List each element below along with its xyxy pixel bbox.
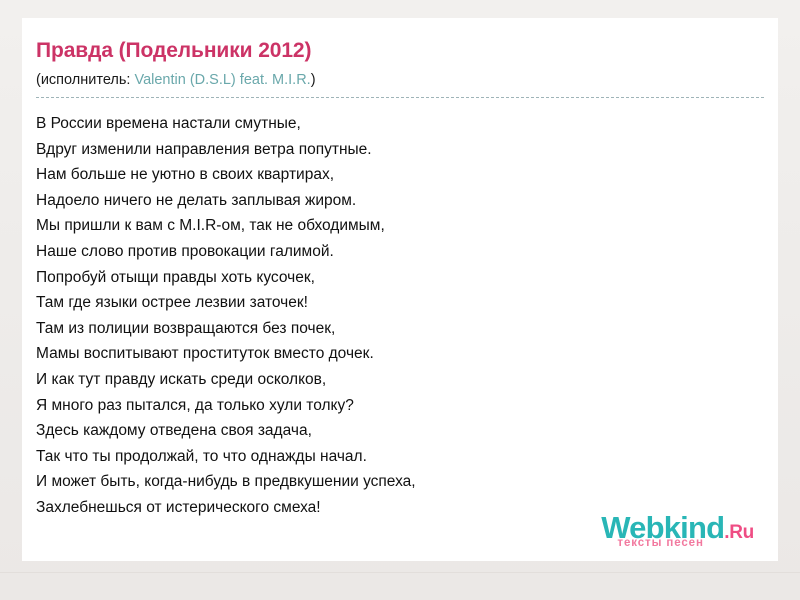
lyric-line: Мамы воспитывают проституток вместо доче… [36, 341, 764, 367]
artist-link[interactable]: Valentin (D.S.L) feat. M.I.R. [134, 72, 310, 88]
lyrics-text: В России времена настали смутные,Вдруг и… [22, 98, 778, 521]
lyrics-card: Правда (Подельники 2012) (исполнитель: V… [22, 18, 778, 561]
artist-suffix: ) [311, 72, 316, 88]
lyric-line: И может быть, когда-нибудь в предвкушени… [36, 469, 764, 495]
lyric-line: Вдруг изменили направления ветра попутны… [36, 137, 764, 163]
lyric-line: В России времена настали смутные, [36, 111, 764, 137]
logo-tld: .Ru [724, 522, 754, 543]
song-header: Правда (Подельники 2012) (исполнитель: V… [22, 18, 778, 90]
lyric-line: Мы пришли к вам с M.I.R-ом, так не обход… [36, 213, 764, 239]
artist-line: (исполнитель: Valentin (D.S.L) feat. M.I… [36, 70, 764, 90]
lyric-line: Попробуй отыщи правды хоть кусочек, [36, 265, 764, 291]
lyric-line: Нам больше не уютно в своих квартирах, [36, 162, 764, 188]
lyric-line: Там из полиции возвращаются без почек, [36, 316, 764, 342]
lyric-line: Наше слово против провокации галимой. [36, 239, 764, 265]
lyric-line: Надоело ничего не делать заплывая жиром. [36, 188, 764, 214]
site-logo[interactable]: Webkind.Ru тексты песен [601, 512, 754, 550]
page-hairline-divider [0, 572, 800, 573]
page-title: Правда (Подельники 2012) [36, 38, 764, 64]
artist-label: (исполнитель: [36, 72, 134, 88]
lyric-line: Так что ты продолжай, то что однажды нач… [36, 444, 764, 470]
lyric-line: И как тут правду искать среди осколков, [36, 367, 764, 393]
lyric-line: Там где языки острее лезвии заточек! [36, 290, 764, 316]
lyric-line: Я много раз пытался, да только хули толк… [36, 393, 764, 419]
lyric-line: Здесь каждому отведена своя задача, [36, 418, 764, 444]
